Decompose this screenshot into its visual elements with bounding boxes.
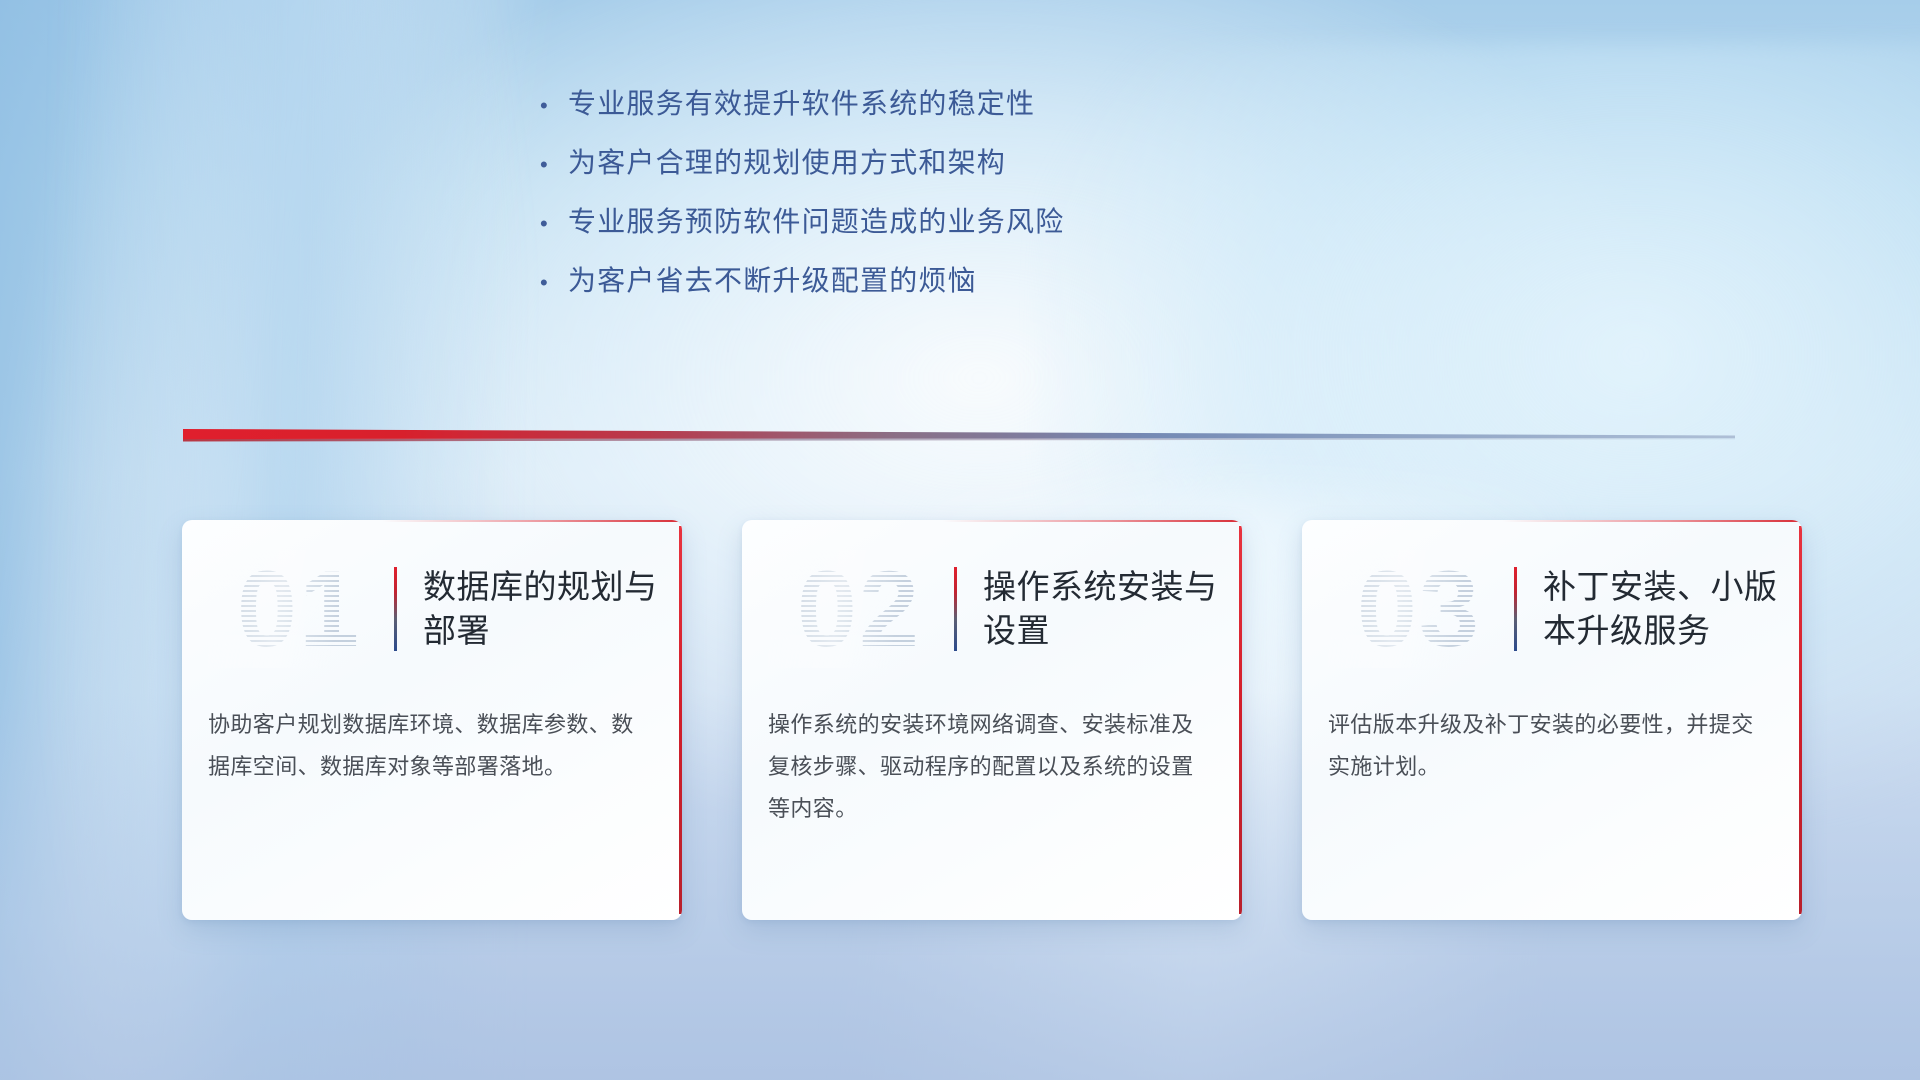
card-header: 02 操作系统安装与设置 [742,520,1242,698]
bullet-marker-icon: • [540,154,568,176]
card-body-text: 评估版本升级及补丁安装的必要性，并提交实施计划。 [1302,698,1802,788]
bullet-text: 专业服务有效提升软件系统的稳定性 [568,86,1035,121]
card-number-watermark: 02 [768,550,950,668]
benefits-bullet-list: • 专业服务有效提升软件系统的稳定性 • 为客户合理的规划使用方式和架构 • 专… [540,86,1160,322]
card-title-accent-bar [394,567,397,651]
card-body-text: 操作系统的安装环境网络调查、安装标准及复核步骤、驱动程序的配置以及系统的设置等内… [742,698,1242,831]
card-body-text: 协助客户规划数据库环境、数据库参数、数据库空间、数据库对象等部署落地。 [182,698,682,788]
service-card-01[interactable]: 01 数据库的规划与部署 协助客户规划数据库环境、数据库参数、数据库空间、数据库… [182,520,682,920]
slide-canvas: • 专业服务有效提升软件系统的稳定性 • 为客户合理的规划使用方式和架构 • 专… [0,0,1920,1080]
card-header: 03 补丁安装、小版本升级服务 [1302,520,1802,698]
bullet-marker-icon: • [540,213,568,235]
card-title: 数据库的规划与部署 [423,565,682,652]
card-title-accent-bar [954,567,957,651]
service-card-03[interactable]: 03 补丁安装、小版本升级服务 评估版本升级及补丁安装的必要性，并提交实施计划。 [1302,520,1802,920]
bullet-marker-icon: • [540,272,568,294]
card-header: 01 数据库的规划与部署 [182,520,682,698]
card-title: 补丁安装、小版本升级服务 [1543,565,1802,652]
card-number-watermark: 01 [208,550,390,668]
service-card-02[interactable]: 02 操作系统安装与设置 操作系统的安装环境网络调查、安装标准及复核步骤、驱动程… [742,520,1242,920]
list-item: • 专业服务预防软件问题造成的业务风险 [540,204,1160,239]
list-item: • 专业服务有效提升软件系统的稳定性 [540,86,1160,121]
bullet-text: 为客户省去不断升级配置的烦恼 [568,263,977,298]
card-title-accent-bar [1514,567,1517,651]
divider-wedge-icon [183,424,1735,450]
list-item: • 为客户省去不断升级配置的烦恼 [540,263,1160,298]
bullet-text: 为客户合理的规划使用方式和架构 [568,145,1006,180]
service-card-list: 01 数据库的规划与部署 协助客户规划数据库环境、数据库参数、数据库空间、数据库… [182,520,1802,920]
card-number-watermark: 03 [1328,550,1510,668]
bullet-text: 专业服务预防软件问题造成的业务风险 [568,204,1064,239]
section-divider [183,424,1735,450]
bullet-marker-icon: • [540,95,568,117]
card-title: 操作系统安装与设置 [983,565,1242,652]
list-item: • 为客户合理的规划使用方式和架构 [540,145,1160,180]
